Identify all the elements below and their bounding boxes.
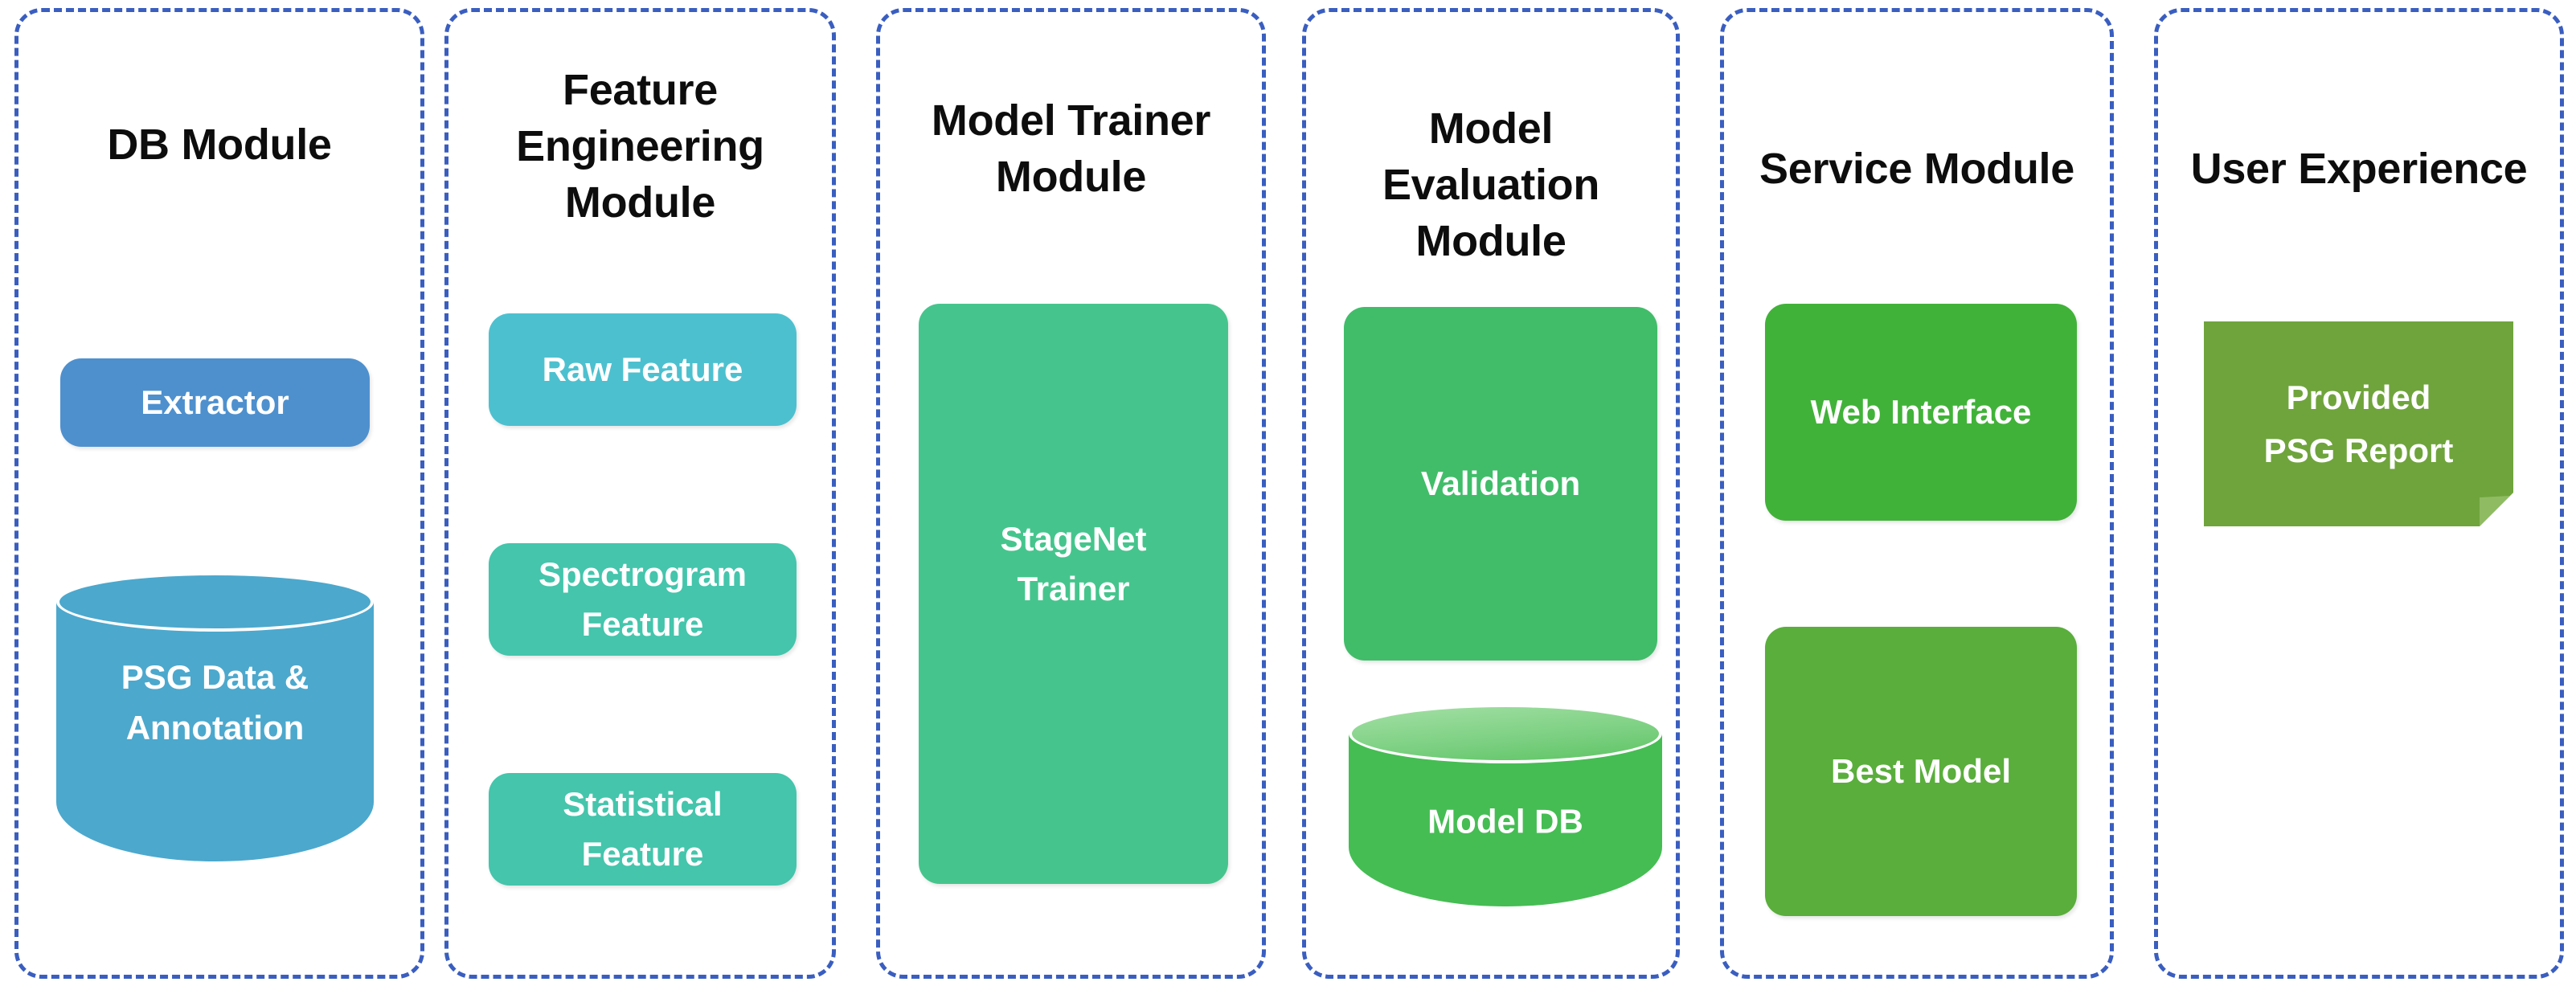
module-title-db-module: DB Module bbox=[31, 117, 408, 173]
node-web-interface[interactable]: Web Interface bbox=[1765, 304, 2077, 521]
node-raw-feature-label: Raw Feature bbox=[543, 345, 743, 395]
node-stagenet-trainer[interactable]: StageNet Trainer bbox=[919, 304, 1228, 884]
psg-cylinder-top bbox=[56, 572, 374, 632]
module-title-model-evaluation-module: Model Evaluation Module bbox=[1317, 100, 1665, 270]
node-raw-feature[interactable]: Raw Feature bbox=[489, 313, 797, 426]
node-web-interface-label: Web Interface bbox=[1811, 387, 2032, 437]
model-db-cylinder-top bbox=[1349, 704, 1662, 763]
node-statistical-feature[interactable]: Statistical Feature bbox=[489, 773, 797, 886]
node-provided-psg-report[interactable]: Provided PSG Report bbox=[2204, 321, 2513, 526]
module-title-feature-engineering-module: Feature Engineering Module bbox=[460, 62, 820, 231]
node-statistical-feature-label: Statistical Feature bbox=[563, 779, 722, 879]
node-validation[interactable]: Validation bbox=[1344, 307, 1657, 661]
module-title-model-trainer-module: Model Trainer Module bbox=[891, 92, 1251, 205]
node-provided-psg-report-label: Provided PSG Report bbox=[2264, 371, 2454, 476]
node-model-db[interactable]: Model DB bbox=[1349, 704, 1662, 906]
node-psg-data-annotation-label: PSG Data & Annotation bbox=[56, 652, 374, 753]
module-title-service-module: Service Module bbox=[1735, 141, 2098, 197]
module-title-user-experience: User Experience bbox=[2170, 141, 2548, 197]
node-spectrogram-feature-label: Spectrogram Feature bbox=[539, 550, 747, 649]
node-psg-data-annotation[interactable]: PSG Data & Annotation bbox=[56, 572, 374, 861]
architecture-diagram: DB Module Extractor PSG Data & Annotatio… bbox=[0, 0, 2576, 990]
node-model-db-label: Model DB bbox=[1349, 796, 1662, 847]
node-stagenet-trainer-label: StageNet Trainer bbox=[919, 514, 1228, 614]
node-spectrogram-feature[interactable]: Spectrogram Feature bbox=[489, 543, 797, 656]
node-extractor-label: Extractor bbox=[141, 378, 289, 427]
node-extractor[interactable]: Extractor bbox=[60, 358, 370, 447]
node-best-model-label: Best Model bbox=[1831, 747, 2011, 796]
node-best-model[interactable]: Best Model bbox=[1765, 627, 2077, 916]
node-validation-label: Validation bbox=[1421, 459, 1580, 509]
